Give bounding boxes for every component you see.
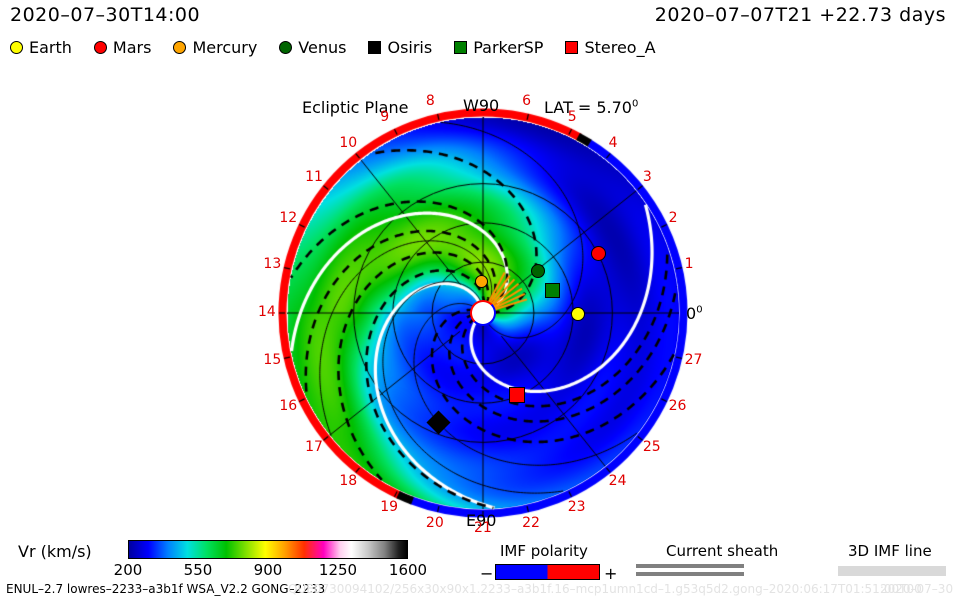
hour-tick-23: 23 xyxy=(568,499,586,515)
hour-tick-10: 10 xyxy=(339,135,357,151)
hour-tick-5: 5 xyxy=(568,109,577,125)
mars-marker-icon xyxy=(94,41,107,54)
label-zero-deg: 00 xyxy=(686,304,703,323)
mercury-marker-icon xyxy=(173,41,186,54)
sheath-line-upper xyxy=(636,564,744,568)
legend-label: Stereo_A xyxy=(584,38,655,57)
legend-item-mercury: Mercury xyxy=(173,38,257,57)
colorbar-tick-550: 550 xyxy=(184,561,213,579)
hour-tick-17: 17 xyxy=(305,439,323,455)
earth-marker-icon xyxy=(10,41,23,54)
hour-tick-21: 21 xyxy=(474,520,492,536)
colorbar-panel: Vr (km/s) 20055090012501600 IMF polarity… xyxy=(0,536,960,600)
label-w90: W90 xyxy=(463,96,499,115)
hour-tick-27: 27 xyxy=(685,352,703,368)
degree-sup: 0 xyxy=(632,99,638,110)
hour-tick-8: 8 xyxy=(426,93,435,109)
current-sheath-swatch xyxy=(636,564,744,578)
date-watermark: 2020–07–30 xyxy=(880,582,953,596)
polarity-plus-label: + xyxy=(604,564,617,583)
colorbar-gradient xyxy=(128,540,408,559)
run-id-watermark: QUE0730094102/256x30x90x1.2233–a3b1f.16–… xyxy=(288,582,922,596)
run-start-datetime: 2020–07–07T21 +22.73 days xyxy=(655,4,946,26)
legend-item-osiris: Osiris xyxy=(368,38,432,57)
colorbar-title: Vr (km/s) xyxy=(18,542,92,561)
hour-tick-14: 14 xyxy=(258,304,276,320)
ecliptic-plane-plot: Ecliptic Plane LAT = 5.700 W90 E90 00 12… xyxy=(0,70,960,530)
marker-mercury xyxy=(475,275,488,288)
hour-tick-25: 25 xyxy=(643,439,661,455)
hour-tick-6: 6 xyxy=(522,93,531,109)
colorbar-tick-1250: 1250 xyxy=(319,561,357,579)
legend-label: Venus xyxy=(298,38,346,57)
hour-tick-9: 9 xyxy=(380,109,389,125)
parkersp-marker-icon xyxy=(454,41,467,54)
marker-earth xyxy=(571,307,585,321)
hour-tick-12: 12 xyxy=(279,210,297,226)
marker-stereo-a xyxy=(509,387,525,403)
hour-tick-15: 15 xyxy=(263,352,281,368)
hour-tick-18: 18 xyxy=(339,473,357,489)
polarity-colorbar xyxy=(495,564,600,580)
legend-item-venus: Venus xyxy=(279,38,346,57)
legend-label: Mars xyxy=(113,38,152,57)
legend-label: Earth xyxy=(29,38,72,57)
hour-tick-13: 13 xyxy=(263,256,281,272)
lat-value: LAT = 5.70 xyxy=(544,98,632,117)
imf3d-swatch xyxy=(838,566,946,576)
hour-tick-22: 22 xyxy=(522,515,540,531)
colorbar-tick-900: 900 xyxy=(254,561,283,579)
legend-item-stereo_a: Stereo_A xyxy=(565,38,655,57)
legend-item-parkersp: ParkerSP xyxy=(454,38,543,57)
polarity-minus-label: − xyxy=(480,564,493,583)
hour-tick-3: 3 xyxy=(643,169,652,185)
colorbar-tick-200: 200 xyxy=(114,561,143,579)
legend-item-earth: Earth xyxy=(10,38,72,57)
marker-venus xyxy=(531,264,545,278)
hour-tick-2: 2 xyxy=(669,210,678,226)
marker-parkersp xyxy=(545,283,560,298)
epoch-datetime: 2020–07–30T14:00 xyxy=(10,4,200,26)
imf3d-title: 3D IMF line xyxy=(848,542,932,560)
plot-title-left: Ecliptic Plane xyxy=(302,98,408,117)
colorbar-tick-1600: 1600 xyxy=(389,561,427,579)
legend-label: Mercury xyxy=(192,38,257,57)
osiris-marker-icon xyxy=(368,41,381,54)
marker-mars xyxy=(591,246,606,261)
hour-tick-1: 1 xyxy=(685,256,694,272)
legend-label: ParkerSP xyxy=(473,38,543,57)
body-legend: EarthMarsMercuryVenusOsirisParkerSPStere… xyxy=(10,38,678,57)
current-sheath-title: Current sheath xyxy=(666,542,778,560)
sheath-line-lower xyxy=(636,572,744,576)
hour-tick-20: 20 xyxy=(426,515,444,531)
hour-tick-19: 19 xyxy=(380,499,398,515)
hour-tick-4: 4 xyxy=(609,135,618,151)
model-footer: ENUL–2.7 lowres–2233–a3b1f WSA_V2.2 GONG… xyxy=(6,582,325,596)
venus-marker-icon xyxy=(279,41,292,54)
sun-disc xyxy=(475,305,491,321)
solar-wind-visualization: 2020–07–30T14:00 2020–07–07T21 +22.73 da… xyxy=(0,0,960,600)
hour-tick-24: 24 xyxy=(609,473,627,489)
imf-polarity-title: IMF polarity xyxy=(500,542,588,560)
hour-tick-11: 11 xyxy=(305,169,323,185)
legend-label: Osiris xyxy=(387,38,432,57)
hour-tick-16: 16 xyxy=(279,398,297,414)
hour-tick-26: 26 xyxy=(669,398,687,414)
legend-item-mars: Mars xyxy=(94,38,152,57)
plot-title-right: LAT = 5.700 xyxy=(544,98,638,117)
stereo_a-marker-icon xyxy=(565,41,578,54)
